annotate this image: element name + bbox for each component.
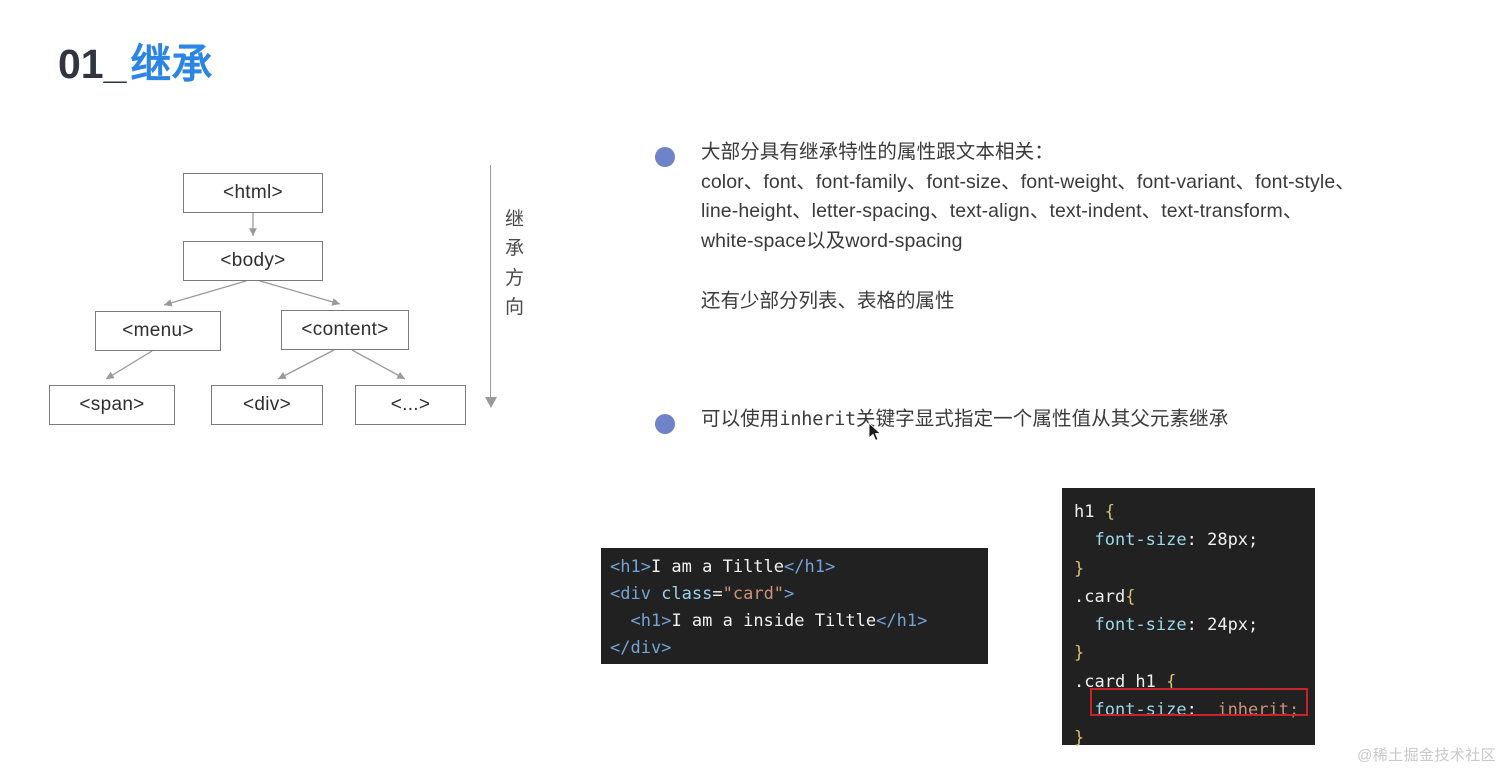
dom-tree-diagram: <html> <body> <menu> <content> <span> <d…: [0, 150, 560, 440]
direction-label-char-3: 方: [504, 264, 526, 293]
code-token: 24px;: [1207, 615, 1258, 635]
code-token: font-size: [1094, 615, 1186, 635]
code-token: [1074, 700, 1094, 720]
bullet-text: 大部分具有继承特性的属性跟文本相关： color、font、font-famil…: [701, 138, 1355, 256]
code-token: {: [1105, 502, 1115, 522]
code-token: </h1>: [784, 557, 835, 577]
code-token: I am a Tiltle: [651, 557, 784, 577]
direction-label-char-4: 向: [504, 293, 526, 322]
code-token: }: [1074, 643, 1084, 663]
tree-node-div: <div>: [211, 385, 323, 425]
code-token: .card: [1074, 587, 1125, 607]
code-token: :: [1187, 530, 1207, 550]
code-token: {: [1166, 672, 1176, 692]
code-line: font-size: 28px;: [1074, 526, 1315, 554]
tree-node-span: <span>: [49, 385, 175, 425]
code-token: .card h1: [1074, 672, 1166, 692]
direction-arrow-head-icon: [485, 397, 497, 408]
code-token: inherit;: [1217, 700, 1299, 720]
bullet-dot-icon: [655, 147, 675, 167]
inherit-text-after: 关键字显式指定一个属性值从其父元素继承: [856, 408, 1228, 430]
code-line: <h1>I am a Tiltle</h1>: [610, 554, 988, 581]
bullet-dot-icon: [655, 414, 675, 434]
bullet-note-lists-tables: 还有少部分列表、表格的属性: [701, 287, 955, 317]
code-token: [610, 611, 630, 631]
code-token: 28px;: [1207, 530, 1258, 550]
code-token: }: [1074, 559, 1084, 579]
code-token: :: [1187, 700, 1218, 720]
bullet-properties-list: color、font、font-family、font-size、font-we…: [701, 168, 1355, 257]
code-token: }: [1074, 728, 1084, 748]
bullet-list: 大部分具有继承特性的属性跟文本相关： color、font、font-famil…: [655, 138, 1355, 256]
tree-node-menu: <menu>: [95, 311, 221, 351]
bullet-heading: 大部分具有继承特性的属性跟文本相关：: [701, 138, 1355, 168]
code-token: <h1>: [610, 557, 651, 577]
tree-node-content: <content>: [281, 310, 409, 350]
bullet-item-inherit: 可以使用inherit关键字显式指定一个属性值从其父元素继承: [655, 405, 1415, 435]
direction-label: 继 承 方 向: [504, 205, 526, 323]
code-line: <div class="card">: [610, 581, 988, 608]
code-token: class: [661, 584, 712, 604]
watermark: @稀土掘金技术社区: [1357, 744, 1496, 765]
inherit-keyword: inherit: [779, 409, 856, 430]
direction-label-char-1: 继: [504, 205, 526, 234]
html-code-snippet: <h1>I am a Tiltle</h1><div class="card">…: [601, 548, 988, 664]
code-token: I am a inside Tiltle: [671, 611, 876, 631]
inherit-text-before: 可以使用: [701, 408, 779, 430]
direction-label-char-2: 承: [504, 234, 526, 263]
code-line: font-size: 24px;: [1074, 611, 1315, 639]
code-token: <div: [610, 584, 661, 604]
css-code-snippet: h1 { font-size: 28px;}.card{ font-size: …: [1062, 488, 1315, 745]
code-token: >: [784, 584, 794, 604]
direction-arrow-line: [490, 165, 491, 400]
tree-node-html: <html>: [183, 173, 323, 213]
bullet-item-properties: 大部分具有继承特性的属性跟文本相关： color、font、font-famil…: [655, 138, 1355, 256]
tree-node-ellipsis: <...>: [355, 385, 466, 425]
page-title: 01_继承: [58, 44, 212, 85]
code-line: <h1>I am a inside Tiltle</h1>: [610, 608, 988, 635]
code-token: h1: [1074, 502, 1105, 522]
inheritance-direction-marker: 继 承 方 向: [482, 165, 542, 420]
tree-node-body: <body>: [183, 241, 323, 281]
code-line: .card{: [1074, 583, 1315, 611]
code-line: h1 {: [1074, 498, 1315, 526]
code-token: <h1>: [630, 611, 671, 631]
title-number: 01_: [58, 41, 126, 87]
code-token: font-size: [1094, 700, 1186, 720]
code-line: .card h1 {: [1074, 668, 1315, 696]
code-token: =: [712, 584, 722, 604]
bullet-inherit-text: 可以使用inherit关键字显式指定一个属性值从其父元素继承: [701, 405, 1228, 435]
code-token: :: [1187, 615, 1207, 635]
mouse-cursor-icon: [868, 422, 882, 442]
code-token: </h1>: [876, 611, 927, 631]
code-token: </div>: [610, 638, 671, 658]
code-line: }: [1074, 555, 1315, 583]
code-line: }: [1074, 639, 1315, 667]
code-line: </div>: [610, 635, 988, 662]
code-token: font-size: [1094, 530, 1186, 550]
code-line: font-size: inherit;: [1074, 696, 1315, 724]
code-token: [1074, 615, 1094, 635]
code-token: [1074, 530, 1094, 550]
bullet-inherit-row: 可以使用inherit关键字显式指定一个属性值从其父元素继承: [655, 405, 1415, 435]
code-token: "card": [723, 584, 784, 604]
code-line: }: [1074, 724, 1315, 752]
title-text: 继承: [130, 41, 212, 87]
code-token: {: [1125, 587, 1135, 607]
